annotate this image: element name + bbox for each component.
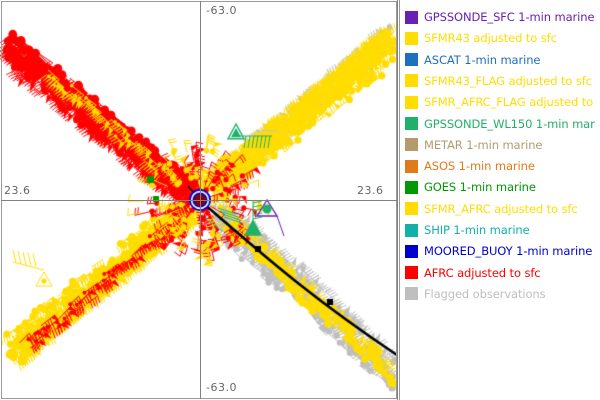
legend-item[interactable]: GPSSONDE_SFC 1-min marine [405,9,594,25]
legend-item[interactable]: SFMR_AFRC_FLAG adjusted to [405,94,593,110]
tick-label-top: -63.0 [206,4,237,17]
legend-item-label: ASOS 1-min marine [424,159,535,173]
plot-panel[interactable]: -63.0 -63.0 23.6 23.6 [0,0,398,400]
legend-item-label: Flagged observations [424,287,546,301]
legend-item[interactable]: METAR 1-min marine [405,137,542,153]
legend-swatch-icon [405,138,418,151]
legend-item[interactable]: GOES 1-min marine [405,179,536,195]
legend-item-label: MOORED_BUOY 1-min marine [424,244,592,258]
legend-swatch-icon [405,224,418,237]
legend-item[interactable]: AFRC adjusted to sfc [405,265,541,281]
legend-swatch-icon [405,117,418,130]
legend-item-label: SFMR_AFRC_FLAG adjusted to [424,95,593,109]
legend-swatch-icon [405,160,418,173]
legend-item-label: GPSSONDE_SFC 1-min marine [424,10,594,24]
legend-item[interactable]: SFMR43 adjusted to sfc [405,30,557,46]
legend-item-label: AFRC adjusted to sfc [424,266,541,280]
legend-panel: GPSSONDE_SFC 1-min marineSFMR43 adjusted… [399,0,600,400]
horizontal-axis-line [1,200,397,201]
legend-item[interactable]: MOORED_BUOY 1-min marine [405,243,592,259]
legend-swatch-icon [405,32,418,45]
legend-item-label: SHIP 1-min marine [424,223,530,237]
legend-item[interactable]: ASOS 1-min marine [405,158,535,174]
legend-swatch-icon [405,53,418,66]
legend-item[interactable]: SFMR43_FLAG adjusted to sfc [405,73,592,89]
legend-swatch-icon [405,11,418,24]
legend-swatch-icon [405,287,418,300]
legend-swatch-icon [405,96,418,109]
tick-label-left: 23.6 [4,184,31,197]
legend-swatch-icon [405,181,418,194]
legend-item[interactable]: GPSSONDE_WL150 1-min mar [405,116,595,132]
legend-item-label: GOES 1-min marine [424,180,536,194]
tick-label-right: 23.6 [357,184,384,197]
legend-item[interactable]: SHIP 1-min marine [405,222,530,238]
tick-label-bottom: -63.0 [206,381,237,394]
legend-item-label: SFMR_AFRC adjusted to sfc [424,202,578,216]
legend-item-label: SFMR43_FLAG adjusted to sfc [424,74,592,88]
legend-swatch-icon [405,74,418,87]
legend-item-label: SFMR43 adjusted to sfc [424,31,557,45]
legend-swatch-icon [405,202,418,215]
legend-item[interactable]: SFMR_AFRC adjusted to sfc [405,201,578,217]
legend-swatch-icon [405,266,418,279]
legend-item-label: GPSSONDE_WL150 1-min mar [424,117,595,131]
legend-swatch-icon [405,245,418,258]
legend-item-label: METAR 1-min marine [424,138,542,152]
legend-item[interactable]: ASCAT 1-min marine [405,52,540,68]
legend-item-label: ASCAT 1-min marine [424,53,540,67]
wind-barb-observation-plot: -63.0 -63.0 23.6 23.6 GPSSONDE_SFC 1-min… [0,0,600,400]
legend-item[interactable]: Flagged observations [405,286,546,302]
